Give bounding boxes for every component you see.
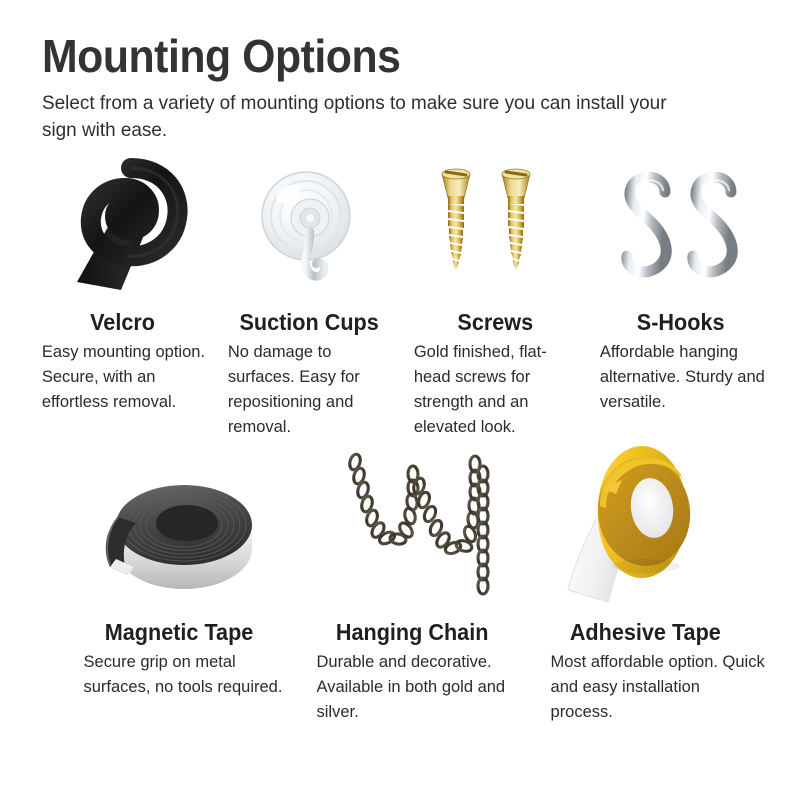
adhesive-tape-roll-icon — [535, 450, 756, 610]
magnetic-tape-roll-icon — [68, 450, 289, 610]
option-description: Durable and decorative. Available in bot… — [301, 649, 531, 724]
s-hooks-icon — [594, 160, 768, 300]
velcro-strap-icon — [36, 160, 210, 300]
option-title: Adhesive Tape — [570, 618, 721, 646]
page-title: Mounting Options — [42, 30, 712, 82]
option-title: S-Hooks — [637, 308, 725, 336]
option-card-velcro: Velcro Easy mounting option. Secure, wit… — [30, 160, 216, 439]
option-title: Hanging Chain — [336, 618, 489, 646]
option-description: Easy mounting option. Secure, with an ef… — [36, 339, 211, 414]
page-subtitle: Select from a variety of mounting option… — [42, 90, 702, 144]
options-row-2: Magnetic Tape Secure grip on metal surfa… — [62, 450, 762, 724]
gold-screws-icon — [408, 160, 582, 300]
option-card-s-hooks: S-Hooks Affordable hanging alternative. … — [588, 160, 774, 439]
option-title: Magnetic Tape — [104, 618, 253, 646]
option-description: Most affordable option. Quick and easy i… — [535, 649, 765, 724]
option-title: Suction Cups — [239, 308, 378, 336]
hanging-chain-icon — [301, 450, 522, 610]
option-card-hanging-chain: Hanging Chain Durable and decorative. Av… — [295, 450, 528, 724]
option-description: Affordable hanging alternative. Sturdy a… — [594, 339, 769, 414]
option-card-screws: Screws Gold finished, flat-head screws f… — [402, 160, 588, 439]
option-card-suction-cups: Suction Cups No damage to surfaces. Easy… — [216, 160, 402, 439]
option-description: Secure grip on metal surfaces, no tools … — [68, 649, 298, 699]
option-description: No damage to surfaces. Easy for repositi… — [222, 339, 397, 439]
option-description: Gold finished, flat-head screws for stre… — [408, 339, 583, 439]
option-card-magnetic-tape: Magnetic Tape Secure grip on metal surfa… — [62, 450, 295, 724]
option-card-adhesive-tape: Adhesive Tape Most affordable option. Qu… — [529, 450, 762, 724]
option-title: Screws — [457, 308, 533, 336]
header: Mounting Options Select from a variety o… — [42, 30, 762, 144]
options-row-1: Velcro Easy mounting option. Secure, wit… — [30, 160, 774, 439]
mounting-options-infographic: Mounting Options Select from a variety o… — [0, 0, 804, 804]
option-title: Velcro — [91, 308, 156, 336]
suction-cup-hook-icon — [222, 160, 396, 300]
